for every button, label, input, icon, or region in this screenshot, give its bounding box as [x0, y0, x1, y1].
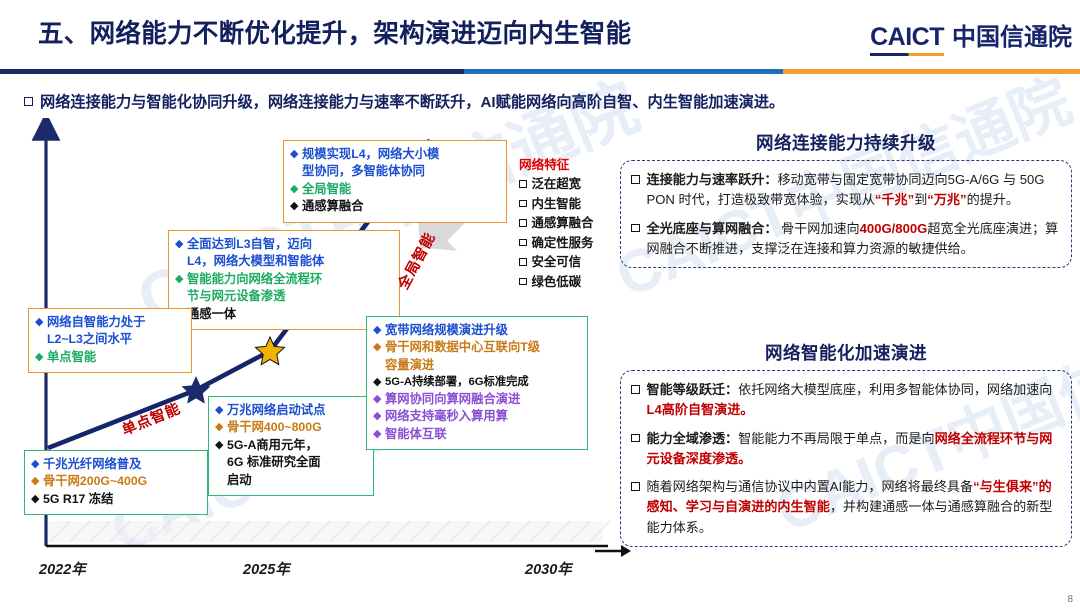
square-bullet-icon — [24, 97, 33, 106]
panel-bullet-body: 全光底座与算网融合： 骨干网加速向400G/800G超宽全光底座演进；算网融合不… — [647, 219, 1060, 260]
diamond-bullet-icon: ◆ — [215, 437, 227, 454]
annotation-text: 通感一体 — [187, 306, 391, 323]
network-feature-item: 安全可信 — [519, 253, 611, 273]
annotation-text: 全局智能 — [302, 181, 498, 198]
caict-logo: CAICT 中国信通院 — [870, 17, 1072, 56]
annotation-text: 5G-A商用元年， — [227, 437, 365, 454]
diamond-bullet-icon: ◆ — [373, 374, 385, 391]
annotation-text: 智能能力向网络全流程环 — [187, 271, 391, 288]
annotation-text: 宽带网络规模演进升级 — [385, 322, 579, 339]
annotation-text: 算网协同向算网融合演进 — [385, 391, 579, 408]
annotation-text: 规模实现L4，网络大小模 — [302, 146, 498, 163]
diamond-bullet-icon: ◆ — [175, 236, 187, 253]
annotation-text: 6G 标准研究全面 — [215, 454, 365, 471]
diamond-bullet-icon: ◆ — [373, 391, 385, 408]
panel-heading: 网络智能化加速演进 — [620, 340, 1072, 365]
annotation-box-2022-network: ◆千兆光纤网络普及 ◆骨干网200G~400G ◆5G R17 冻结 — [24, 450, 208, 515]
panel-bullet-text: 的提升。 — [967, 192, 1019, 207]
annotation-text: 5G-A持续部署，6G标准完成 — [385, 374, 579, 391]
annotation-text: 骨干网400~800G — [227, 419, 365, 436]
annotation-text: 节与网元设备渗透 — [175, 288, 391, 305]
annotation-text: 型协同，多智能体协同 — [290, 163, 498, 180]
square-bullet-icon — [631, 385, 640, 394]
panel-bullet: 智能等级跃迁：依托网络大模型底座，利用多智能体协同，网络加速向L4高阶自智演进。 — [631, 380, 1059, 421]
annotation-text: 万兆网络启动试点 — [227, 402, 365, 419]
network-feature-item: 通感算融合 — [519, 214, 611, 234]
network-feature-label: 绿色低碳 — [532, 273, 582, 293]
square-bullet-icon — [631, 482, 640, 491]
annotation-text: 通感算融合 — [302, 198, 498, 215]
diamond-bullet-icon: ◆ — [373, 339, 385, 356]
network-feature-label: 通感算融合 — [532, 214, 594, 234]
panel-bullet-text: 到 — [914, 192, 927, 207]
square-bullet-icon — [519, 239, 527, 247]
annotation-box-2022-intelligence: ◆网络自智能力处于 L2~L3之间水平 ◆单点智能 — [28, 308, 192, 373]
square-bullet-icon — [631, 224, 640, 233]
diamond-bullet-icon: ◆ — [290, 146, 302, 163]
panel-bullet-lead: 连接能力与速率跃升 — [647, 172, 765, 187]
panel-card: 智能等级跃迁：依托网络大模型底座，利用多智能体协同，网络加速向L4高阶自智演进。… — [620, 370, 1072, 547]
diamond-bullet-icon: ◆ — [373, 426, 385, 443]
annotation-text: 5G R17 冻结 — [43, 491, 199, 508]
panel-bullet-text: 骨干网加速向 — [777, 221, 859, 236]
subtitle-bullet: 网络连接能力与智能化协同升级，网络连接能力与速率不断跃升，AI赋能网络向高阶自智… — [24, 90, 1069, 112]
annotation-text: 容量演进 — [373, 357, 579, 374]
panel-bullet-body: 智能等级跃迁：依托网络大模型底座，利用多智能体协同，网络加速向L4高阶自智演进。 — [647, 380, 1060, 421]
panel-bullet-highlight: “千兆” — [875, 192, 914, 207]
panel-bullet-highlight: 400G/800G — [860, 221, 928, 236]
annotation-text: 智能体互联 — [385, 426, 579, 443]
network-feature-item: 泛在超宽 — [519, 175, 611, 195]
square-bullet-icon — [519, 200, 527, 208]
panel-bullet-body: 能力全域渗透：智能能力不再局限于单点，而是向网络全流程环节与网元设备深度渗透。 — [647, 429, 1060, 470]
annotation-text: 千兆光纤网络普及 — [43, 456, 199, 473]
divider-segment-orange — [783, 69, 1080, 74]
square-bullet-icon — [631, 434, 640, 443]
panel-bullet-body: 随着网络架构与通信协议中内置AI能力，网络将最终具备“与生俱来”的感知、学习与自… — [647, 477, 1060, 538]
square-bullet-icon — [519, 278, 527, 286]
diamond-bullet-icon: ◆ — [215, 402, 227, 419]
logo-en-text: CAICT — [870, 23, 944, 56]
panel-bullet-body: 连接能力与速率跃升：移动宽带与固定宽带协同迈向5G-A/6G 与 50G PON… — [647, 170, 1060, 211]
diamond-bullet-icon: ◆ — [373, 408, 385, 425]
square-bullet-icon — [631, 175, 640, 184]
page-title: 五、网络能力不断优化提升，架构演进迈向内生智能 — [38, 13, 631, 50]
connector-arrow-icon — [595, 540, 635, 562]
x-tick-label: 2025年 — [243, 558, 290, 579]
panel-bullet-sep: ： — [764, 172, 777, 187]
network-feature-label: 确定性服务 — [532, 234, 594, 254]
network-feature-label: 安全可信 — [532, 253, 582, 273]
diamond-bullet-icon: ◆ — [31, 491, 43, 508]
annotation-text: L4，网络大模型和智能体 — [175, 253, 391, 270]
network-feature-item: 确定性服务 — [519, 234, 611, 254]
annotation-text: 单点智能 — [47, 349, 183, 366]
panel-bullet-text: 随着网络架构与通信协议中内置AI能力，网络将最终具备 — [647, 479, 974, 494]
data-point-star — [182, 376, 211, 404]
header-divider — [0, 69, 1080, 74]
panel-connectivity: 网络连接能力持续升级 连接能力与速率跃升：移动宽带与固定宽带协同迈向5G-A/6… — [620, 130, 1072, 268]
hatch-band — [48, 521, 610, 542]
panel-bullet: 随着网络架构与通信协议中内置AI能力，网络将最终具备“与生俱来”的感知、学习与自… — [631, 477, 1059, 538]
divider-segment-navy — [0, 69, 464, 74]
diamond-bullet-icon: ◆ — [31, 473, 43, 490]
panel-bullet: 全光底座与算网融合： 骨干网加速向400G/800G超宽全光底座演进；算网融合不… — [631, 219, 1059, 260]
network-feature-label: 内生智能 — [532, 195, 582, 215]
square-bullet-icon — [519, 219, 527, 227]
panel-bullet: 能力全域渗透：智能能力不再局限于单点，而是向网络全流程环节与网元设备深度渗透。 — [631, 429, 1059, 470]
page-number: 8 — [1067, 594, 1073, 605]
panel-bullet-text: 智能能力不再局限于单点，而是向 — [738, 431, 934, 446]
annotation-text: 网络自智能力处于 — [47, 314, 183, 331]
annotation-text: 全面达到L3自智，迈向 — [187, 236, 391, 253]
network-features-title: 网络特征 — [519, 154, 611, 173]
panel-bullet-highlight: L4高阶自智演进。 — [647, 402, 754, 417]
panel-bullet-highlight: “万兆” — [927, 192, 966, 207]
annotation-text: 启动 — [215, 472, 365, 489]
subtitle-text: 网络连接能力与智能化协同升级，网络连接能力与速率不断跃升，AI赋能网络向高阶自智… — [40, 94, 784, 111]
annotation-text: L2~L3之间水平 — [35, 331, 183, 348]
panel-bullet-lead: 能力全域渗透： — [647, 431, 739, 446]
diamond-bullet-icon: ◆ — [290, 198, 302, 215]
evolution-chart: ◆规模实现L4，网络大小模 型协同，多智能体协同 ◆全局智能 ◆通感算融合 ◆全… — [0, 118, 615, 588]
square-bullet-icon — [519, 258, 527, 266]
diamond-bullet-icon: ◆ — [35, 314, 47, 331]
annotation-box-2030-network: ◆宽带网络规模演进升级 ◆骨干网和数据中心互联向T级 容量演进 ◆5G-A持续部… — [366, 316, 588, 450]
diamond-bullet-icon: ◆ — [31, 456, 43, 473]
panel-bullet: 连接能力与速率跃升：移动宽带与固定宽带协同迈向5G-A/6G 与 50G PON… — [631, 170, 1059, 211]
diamond-bullet-icon: ◆ — [175, 271, 187, 288]
annotation-text: 骨干网200G~400G — [43, 473, 199, 490]
diamond-bullet-icon: ◆ — [290, 181, 302, 198]
annotation-text: 骨干网和数据中心互联向T级 — [385, 339, 579, 356]
panel-heading: 网络连接能力持续升级 — [620, 130, 1072, 155]
panel-bullet-lead: 智能等级跃迁： — [647, 382, 739, 397]
diamond-bullet-icon: ◆ — [373, 322, 385, 339]
panel-bullet-text: 依托网络大模型底座，利用多智能体协同，网络加速向 — [738, 382, 1052, 397]
network-features-list: 网络特征 泛在超宽 内生智能 通感算融合 确定性服务 安全可信 绿色低碳 — [519, 154, 611, 293]
panel-bullet-lead: 全光底座与算网融合： — [647, 221, 778, 236]
x-tick-label: 2030年 — [525, 558, 572, 579]
annotation-text: 网络支持毫秒入算用算 — [385, 408, 579, 425]
panel-intelligence: 网络智能化加速演进 智能等级跃迁：依托网络大模型底座，利用多智能体协同，网络加速… — [620, 340, 1072, 547]
network-feature-item: 绿色低碳 — [519, 273, 611, 293]
annotation-box-2025-network: ◆万兆网络启动试点 ◆骨干网400~800G ◆5G-A商用元年， 6G 标准研… — [208, 396, 374, 496]
annotation-box-2030-intelligence: ◆规模实现L4，网络大小模 型协同，多智能体协同 ◆全局智能 ◆通感算融合 — [283, 140, 507, 223]
slide: CAICT中国信通院 CAICT中国信通院 CAICT中国信通院 CAICT中国… — [0, 0, 1080, 608]
network-feature-item: 内生智能 — [519, 195, 611, 215]
panel-card: 连接能力与速率跃升：移动宽带与固定宽带协同迈向5G-A/6G 与 50G PON… — [620, 160, 1072, 268]
square-bullet-icon — [519, 180, 527, 188]
x-tick-label: 2022年 — [39, 558, 86, 579]
divider-segment-blue — [464, 69, 783, 74]
diamond-bullet-icon: ◆ — [215, 419, 227, 436]
logo-cn-text: 中国信通院 — [952, 17, 1072, 52]
network-feature-label: 泛在超宽 — [532, 175, 582, 195]
diamond-bullet-icon: ◆ — [35, 349, 47, 366]
